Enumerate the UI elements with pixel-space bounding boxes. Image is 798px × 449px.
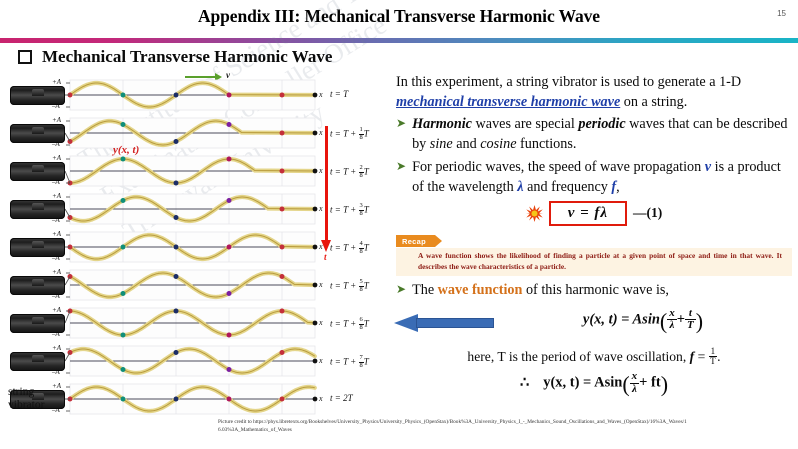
string-vibrator-icon (10, 352, 65, 371)
bullet2-text-a: For periodic waves, the speed of wave pr… (412, 159, 705, 175)
amplitude-positive-label: +A (52, 192, 61, 200)
panel-x-axis-label: x (319, 356, 323, 365)
string-vibrator-icon (10, 314, 65, 333)
bullet3-text-a: The (412, 282, 438, 298)
bullet-periodic-waves: ➤ For periodic waves, the speed of wave … (396, 157, 792, 197)
arrow-bullet-icon: ➤ (396, 157, 406, 197)
panel-time-label: t = T (330, 89, 348, 99)
final-frac-den: λ (630, 384, 640, 396)
panel-x-axis-label: x (319, 280, 323, 289)
bullet1-text-f: and (453, 136, 481, 152)
picture-credit: Picture credit to https://phys.libretext… (218, 419, 688, 434)
bullet2-text-c: and frequency (524, 179, 612, 195)
bullet3-highlight: wave function (438, 282, 523, 298)
amplitude-positive-label: +A (52, 344, 61, 352)
wave-eq-plus: + (677, 311, 685, 327)
recap-callout: Recap A wave function shows the likeliho… (396, 231, 792, 276)
bullet-harmonic-waves: ➤ Harmonic waves are special periodic wa… (396, 114, 792, 154)
wave-eq-frac1-den: λ (667, 320, 677, 332)
equation-1-box: v = fλ (549, 201, 627, 226)
arrow-bullet-icon: ➤ (396, 280, 406, 300)
panel-time-label: t = T + 38T (330, 203, 369, 218)
panel-time-label: t = 2T (330, 393, 353, 403)
section-heading-label: Mechanical Transverse Harmonic Wave (42, 47, 332, 67)
bullet1-text-e: sine (430, 136, 453, 152)
page-title: Appendix III: Mechanical Transverse Harm… (0, 6, 798, 27)
panel-x-axis-label: x (319, 204, 323, 213)
header-divider (0, 38, 798, 43)
amplitude-positive-label: +A (52, 116, 61, 124)
equation-1-text: v = fλ (568, 205, 608, 221)
amplitude-positive-label: +A (52, 306, 61, 314)
period-explanation: here, T is the period of wave oscillatio… (396, 347, 792, 367)
wave-function-equation-row: y(x, t) = Asin(xλ+tT) (396, 308, 792, 342)
amplitude-positive-label: +A (52, 78, 61, 86)
intro-text-b: on a string. (620, 94, 687, 110)
wave-function-equation: y(x, t) = Asin(xλ+tT) (500, 308, 786, 334)
here-equals: = (694, 348, 708, 363)
equation-1-row: v = fλ —(1) (396, 201, 792, 226)
content-column: In this experiment, a string vibrator is… (396, 72, 792, 398)
wave-eq-frac2-den: T (685, 320, 696, 332)
final-eq-lhs: y(x, t) = Asin (543, 375, 622, 391)
section-heading: Mechanical Transverse Harmonic Wave (18, 47, 332, 67)
string-vibrator-caption: string vibrator (8, 386, 44, 412)
here-frac-den: T (709, 357, 718, 366)
wave-function-annotation: y(x, t) (113, 144, 139, 156)
bullet-wave-function: ➤ The wave function of this harmonic wav… (396, 280, 792, 300)
string-vibrator-icon (10, 86, 65, 105)
panel-time-label: t = T + 28T (330, 165, 369, 180)
panel-x-axis-label: x (319, 394, 323, 403)
arrow-bullet-icon: ➤ (396, 114, 406, 154)
bullet1-text-a: Harmonic (412, 116, 472, 132)
wave-eq-lhs: y(x, t) = Asin (583, 311, 660, 327)
bullet1-text-h: functions. (517, 136, 577, 152)
intro-text-a: In this experiment, a string vibrator is… (396, 74, 741, 90)
string-vibrator-icon (10, 162, 65, 181)
panel-x-axis-label: x (319, 128, 323, 137)
here-text-a: here, T is the period of wave oscillatio… (467, 348, 689, 363)
intro-paragraph: In this experiment, a string vibrator is… (396, 72, 792, 112)
panel-x-axis-label: x (319, 90, 323, 99)
bullet3-text-b: of this harmonic wave is, (522, 282, 669, 298)
wave-figure: v t y(x, t) xt = Txt = T + 18Txt = T + 2… (0, 68, 392, 416)
here-period: . (717, 348, 720, 363)
page-number: 15 (777, 9, 786, 18)
string-vibrator-icon (10, 276, 65, 295)
string-vibrator-icon (10, 124, 65, 143)
time-direction-arrow-icon: t (321, 126, 335, 256)
panel-time-label: t = T + 68T (330, 317, 369, 332)
string-vibrator-icon (10, 200, 65, 219)
bullet2-text-d: , (616, 179, 620, 195)
panel-time-label: t = T + 58T (330, 279, 369, 294)
final-eq-rest: + ft (639, 375, 661, 391)
panel-time-label: t = T + 78T (330, 355, 369, 370)
amplitude-positive-label: +A (52, 154, 61, 162)
bullet1-text-g: cosine (480, 136, 516, 152)
left-arrow-icon (394, 314, 494, 332)
string-vibrator-caption-line2: vibrator (8, 399, 44, 412)
sunburst-star-icon (526, 205, 543, 222)
recap-tag-label: Recap (396, 235, 435, 247)
panel-x-axis-label: x (319, 166, 323, 175)
time-arrow-label: t (324, 252, 327, 262)
string-vibrator-caption-line1: string (8, 386, 44, 399)
bullet1-text-b: waves are special (472, 116, 578, 132)
final-equation: ∴y(x, t) = Asin(xλ+ ft) (396, 371, 792, 397)
equation-1-number: —(1) (633, 205, 662, 221)
therefore-symbol: ∴ (520, 375, 529, 391)
amplitude-positive-label: +A (52, 230, 61, 238)
amplitude-positive-label: +A (52, 382, 61, 390)
amplitude-positive-label: +A (52, 268, 61, 276)
panel-time-label: t = T + 18T (330, 127, 369, 142)
panel-time-label: t = T + 48T (330, 241, 369, 256)
intro-highlight: mechanical transverse harmonic wave (396, 94, 620, 110)
panel-x-axis-label: x (319, 242, 323, 251)
bullet1-text-c: periodic (578, 116, 625, 132)
square-bullet-icon (18, 50, 32, 64)
string-vibrator-icon (10, 238, 65, 257)
panel-x-axis-label: x (319, 318, 323, 327)
recap-body-text: A wave function shows the likelihood of … (396, 248, 792, 276)
